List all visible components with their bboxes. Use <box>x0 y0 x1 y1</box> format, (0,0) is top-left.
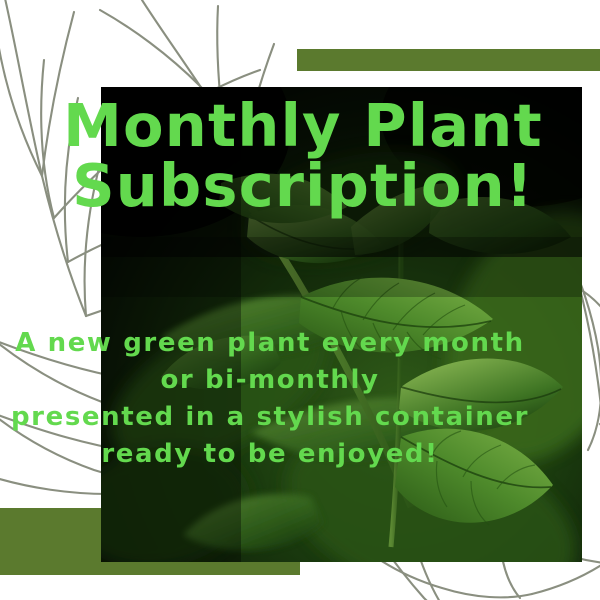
body-copy-text: A new green plant every month or bi-mont… <box>0 325 540 473</box>
page-title: Monthly Plant Subscription! <box>58 96 548 216</box>
poster-canvas: Monthly Plant Subscription! A new green … <box>0 0 600 600</box>
top-olive-bar <box>297 49 600 71</box>
